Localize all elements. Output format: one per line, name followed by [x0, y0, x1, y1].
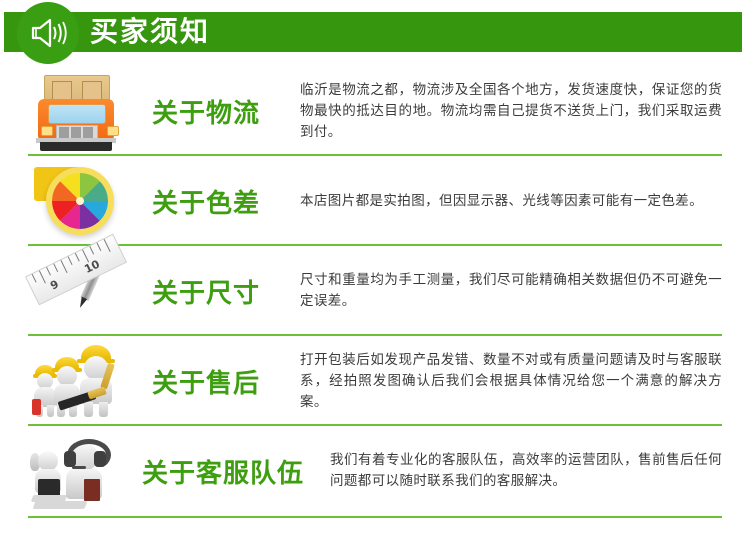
section-title-color: 关于色差: [152, 183, 294, 220]
section-body-service: 我们有着专业化的客服队伍，高效率的运营团队，售前售后任何问题都可以随时联系我们的…: [330, 450, 750, 492]
section-title-logistics: 关于物流: [152, 93, 294, 130]
section-title-aftersales: 关于售后: [152, 363, 294, 400]
section-divider-bottom: [28, 516, 722, 518]
section-body-size: 尺寸和重量均为手工测量，我们尽可能精确相关数据但仍不可避免一定误差。: [300, 270, 750, 312]
notice-sections: 关于物流 临沂是物流之都，物流涉及全国各个地方，发货速度快，保证您的货物最快的抵…: [0, 66, 750, 516]
section-body-logistics: 临沂是物流之都，物流涉及全国各个地方，发货速度快，保证您的货物最快的抵达目的地。…: [300, 80, 750, 143]
notice-row-aftersales: 关于售后 打开包装后如发现产品发错、数量不对或有质量问题请及时与客服联系，经拍照…: [0, 336, 750, 426]
customer-service-agents-icon: [30, 433, 130, 509]
ruler-mark-9: 9: [48, 278, 61, 293]
section-body-aftersales: 打开包装后如发现产品发错、数量不对或有质量问题请及时与客服联系，经拍照发图确认后…: [300, 350, 750, 413]
page-title: 买家须知: [90, 12, 210, 52]
notice-row-size: 10 9 关于尺寸 尺寸和重量均为手工测量，我们尽可能精确相关数据但仍不可避免一…: [0, 246, 750, 336]
buyer-notice-page: 买家须知 关于物流 临沂是物流之都，物流涉及全国各个地方，发货速度快，保证您的货…: [0, 0, 750, 551]
notice-row-service: 关于客服队伍 我们有着专业化的客服队伍，高效率的运营团队，售前售后任何问题都可以…: [0, 426, 750, 516]
section-title-service: 关于客服队伍: [142, 453, 324, 490]
ruler-mark-10: 10: [82, 258, 101, 276]
section-title-size: 关于尺寸: [152, 273, 294, 310]
notice-row-logistics: 关于物流 临沂是物流之都，物流涉及全国各个地方，发货速度快，保证您的货物最快的抵…: [0, 66, 750, 156]
ruler-pen-icon: 10 9: [30, 253, 130, 329]
megaphone-speaker-icon: [17, 2, 79, 64]
section-body-color: 本店图片都是实拍图，但因显示器、光线等因素可能有一定色差。: [300, 191, 750, 212]
construction-workers-icon: [30, 343, 130, 419]
delivery-truck-icon: [30, 73, 130, 149]
color-wheel-lemon-icon: [30, 163, 130, 239]
